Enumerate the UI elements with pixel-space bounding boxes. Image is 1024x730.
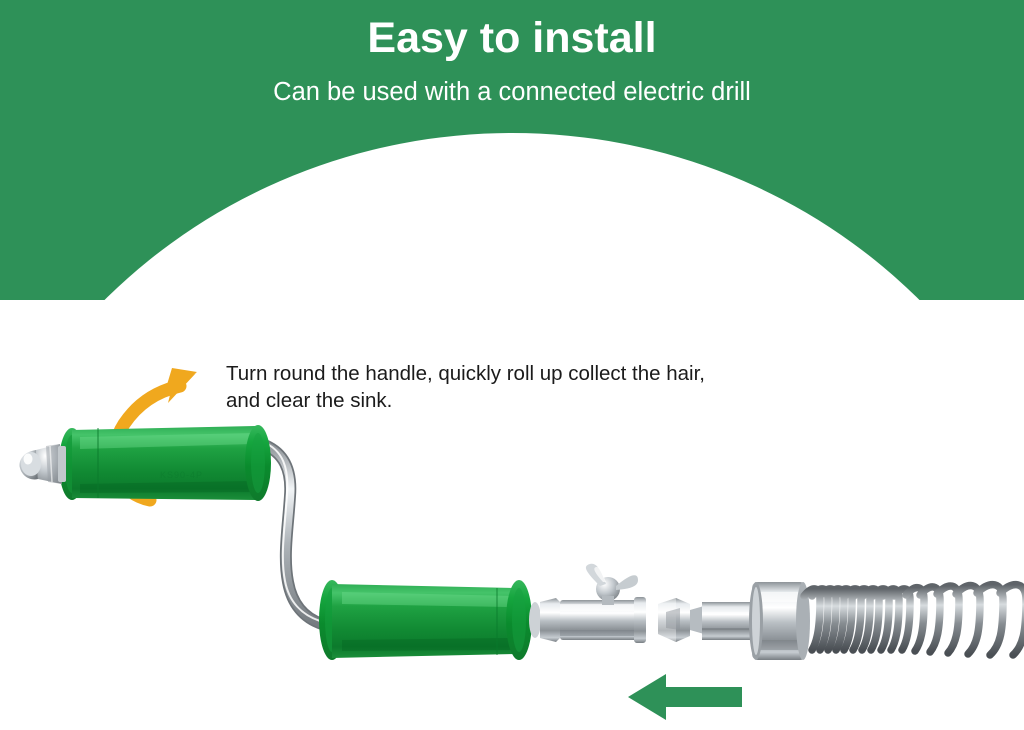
crank-rod xyxy=(262,442,322,624)
wing-nut xyxy=(586,564,638,605)
coupler-barrel xyxy=(749,582,810,660)
instruction-caption: Turn round the handle, quickly roll up c… xyxy=(226,360,866,415)
chuck-collar xyxy=(529,597,646,643)
lower-handle-grip xyxy=(319,580,532,660)
infographic-canvas: Easy to install Can be used with a conne… xyxy=(0,0,1024,730)
spring-auger-coil xyxy=(804,585,1024,655)
caption-line-2: and clear the sink. xyxy=(226,387,866,414)
direction-arrow-icon xyxy=(620,668,750,726)
upper-handle-grip: KS90-4P xyxy=(59,425,271,501)
hex-drill-shank xyxy=(658,598,758,642)
svg-text:KS90-4P: KS90-4P xyxy=(160,470,203,480)
caption-line-1: Turn round the handle, quickly roll up c… xyxy=(226,362,705,385)
cap-nut xyxy=(20,444,66,484)
